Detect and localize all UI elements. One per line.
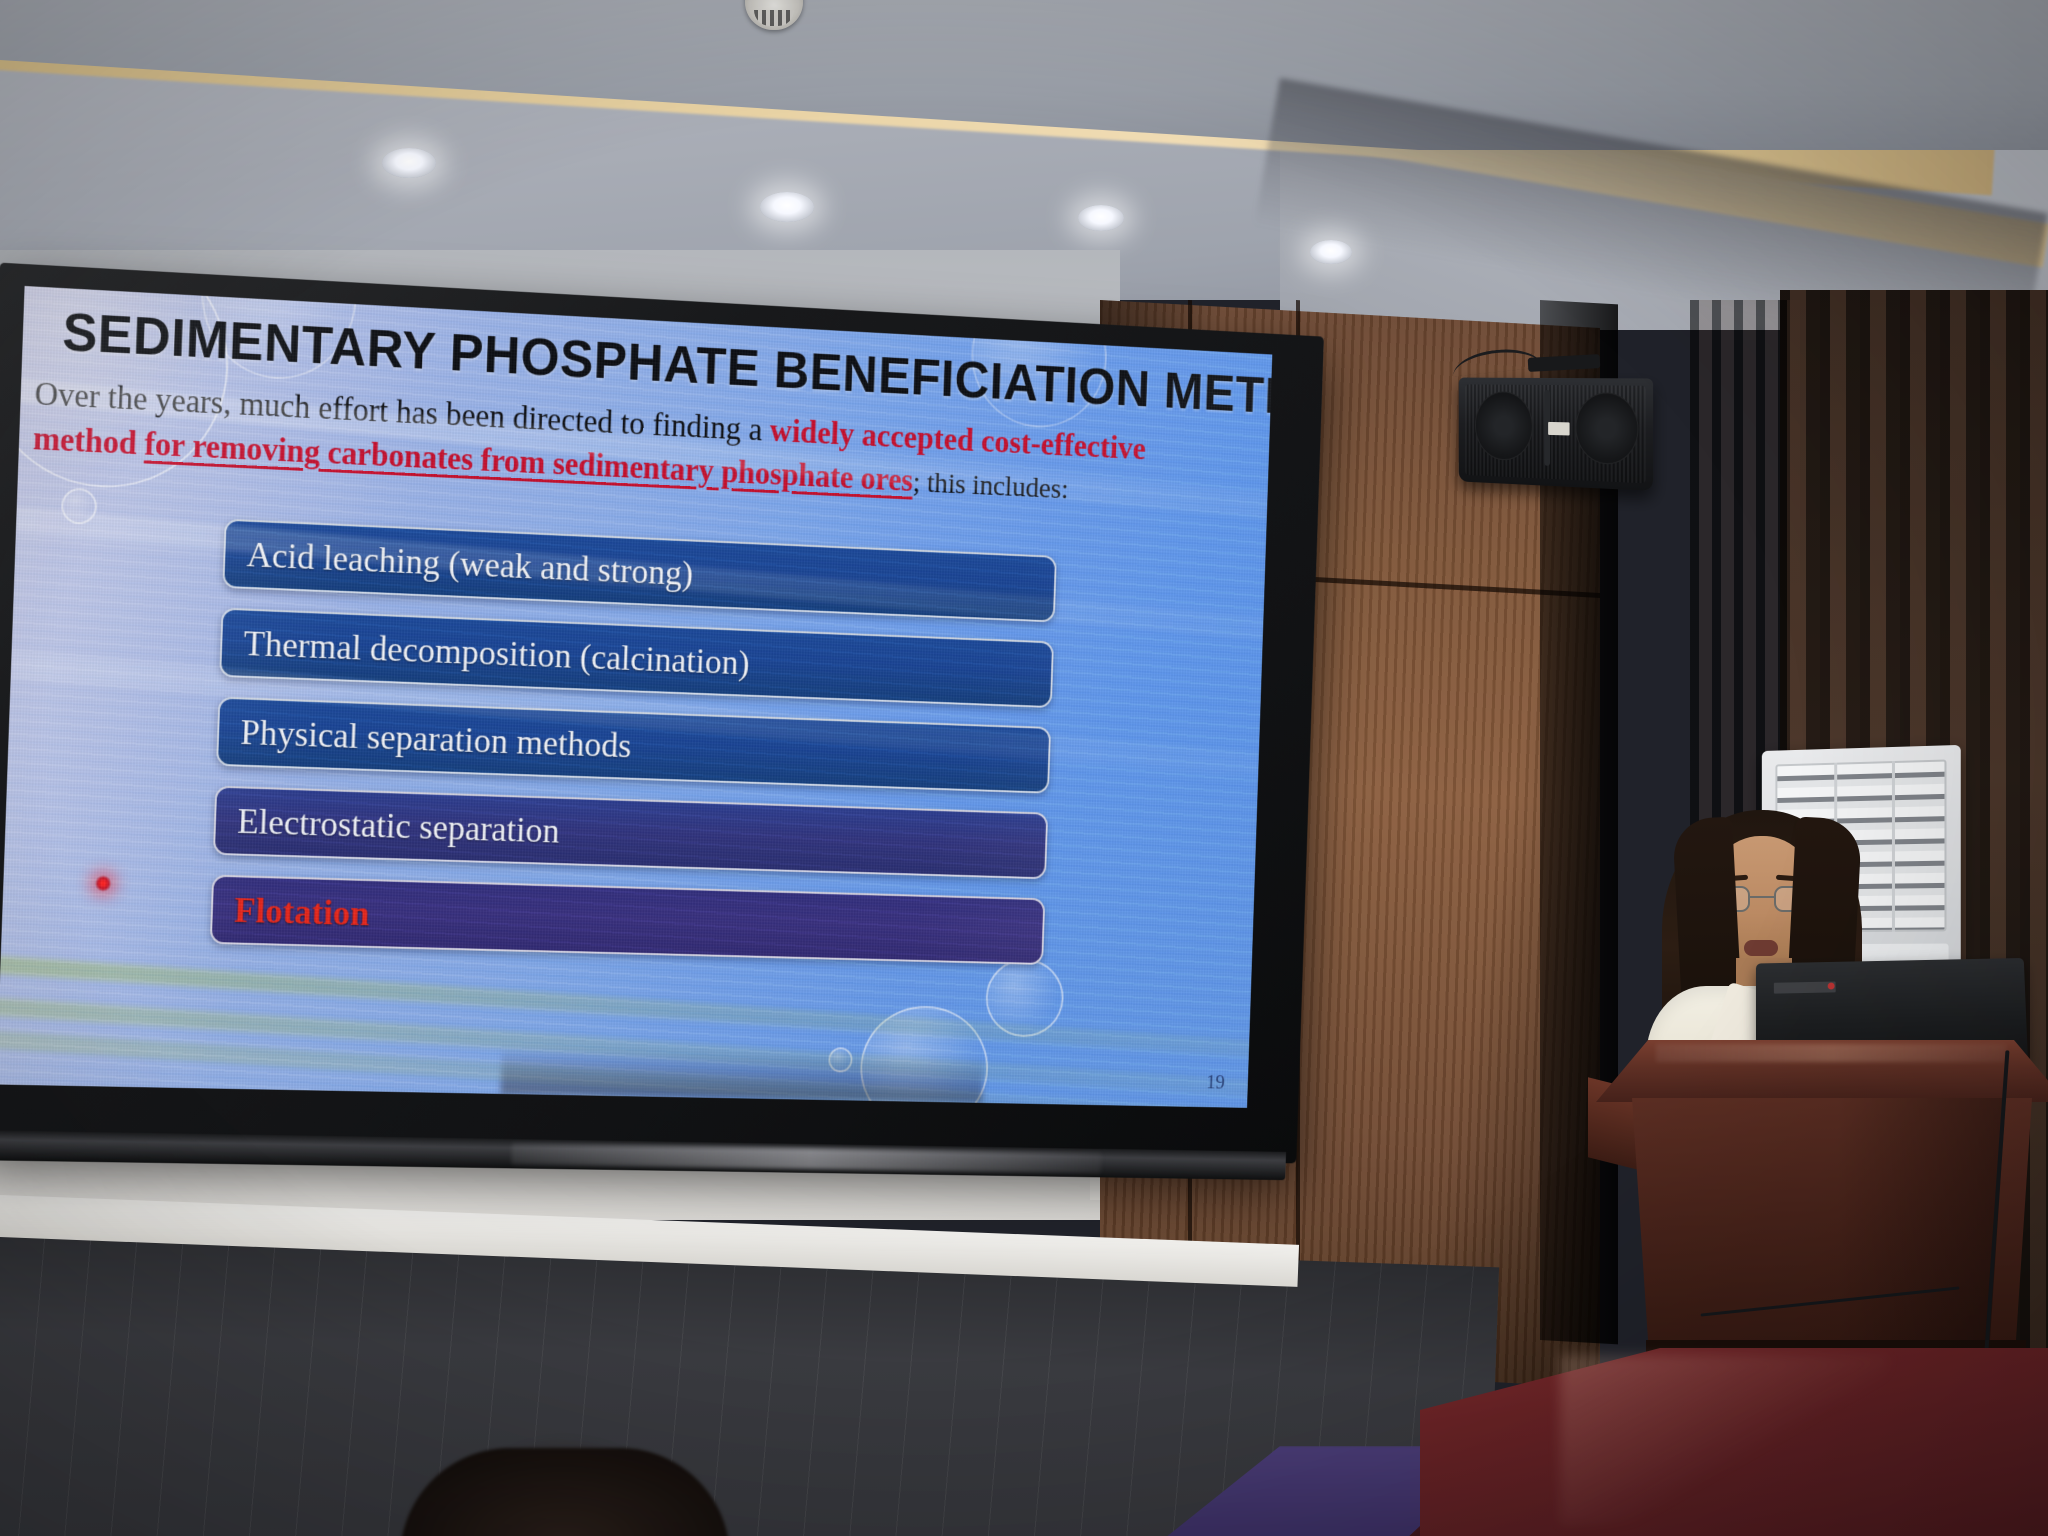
downlight-icon bbox=[382, 148, 436, 178]
presenter-mouth bbox=[1744, 940, 1778, 956]
screen-scanlines bbox=[0, 286, 1272, 1108]
loudspeaker-icon bbox=[1459, 378, 1653, 491]
presentation-photo: SEDIMENTARY PHOSPHATE BENEFICIATION METH… bbox=[0, 0, 2048, 1536]
foreground-table-gloss bbox=[1560, 1355, 1890, 1525]
speaker-cone bbox=[1475, 391, 1533, 461]
downlight-icon bbox=[1078, 205, 1124, 231]
slide-canvas: SEDIMENTARY PHOSPHATE BENEFICIATION METH… bbox=[0, 286, 1272, 1108]
downlight-icon bbox=[760, 192, 814, 222]
laptop-logo bbox=[1774, 981, 1836, 993]
downlight-icon bbox=[1310, 240, 1352, 264]
speaker-brand-badge bbox=[1548, 422, 1569, 436]
screen-display-area[interactable]: SEDIMENTARY PHOSPHATE BENEFICIATION METH… bbox=[0, 286, 1272, 1108]
presentation-display[interactable]: SEDIMENTARY PHOSPHATE BENEFICIATION METH… bbox=[0, 263, 1324, 1164]
lectern bbox=[1596, 1040, 2048, 1370]
screen-audience-reflection bbox=[501, 1047, 984, 1103]
speaker-cone bbox=[1576, 392, 1639, 465]
lectern-gloss-highlight bbox=[1656, 1044, 2006, 1062]
glasses-bridge bbox=[1750, 896, 1774, 898]
